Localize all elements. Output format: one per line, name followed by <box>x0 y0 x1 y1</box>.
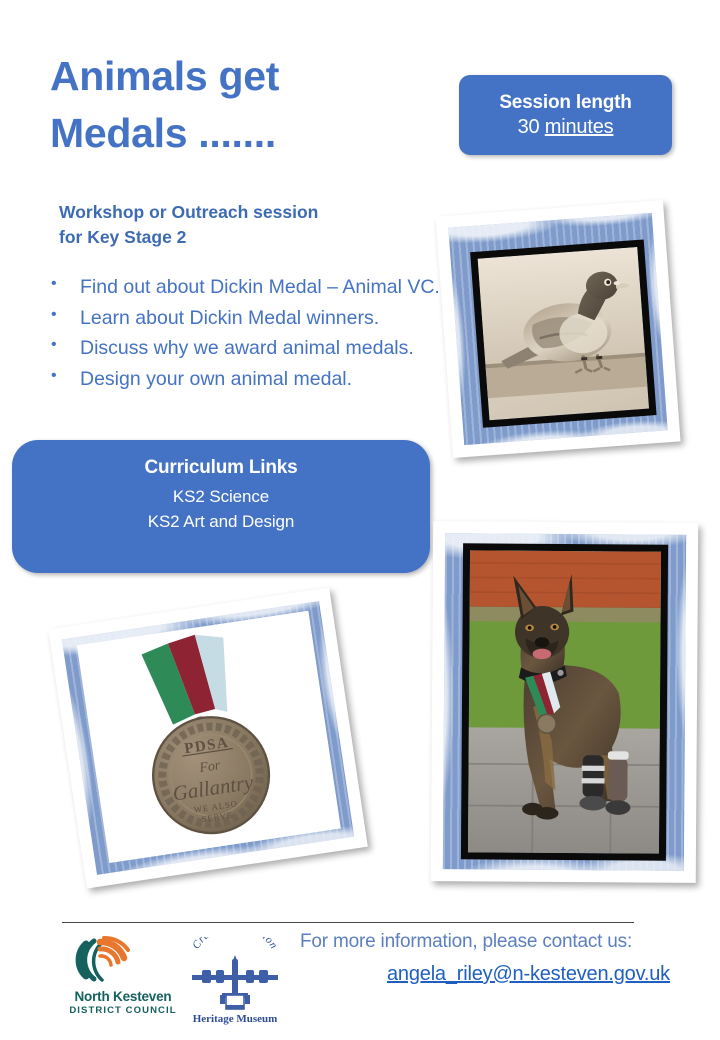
cranwell-aircraft-icon: Cranwell Aviation <box>182 937 288 1013</box>
medal-photo: PDSA For Gallantry WE ALSO SERVE <box>77 611 341 863</box>
pigeon-photo <box>470 239 656 427</box>
medal-photo-frame: PDSA For Gallantry WE ALSO SERVE <box>48 587 368 888</box>
list-item: Design your own animal medal. <box>44 365 464 395</box>
list-item: Discuss why we award animal medals. <box>44 334 464 364</box>
curriculum-link-item: KS2 Science <box>173 485 269 510</box>
pigeon-photo-frame <box>435 200 680 458</box>
cranwell-logo-arc-text: Cranwell Aviation <box>190 937 280 951</box>
contact-prompt: For more information, please contact us: <box>300 931 670 953</box>
session-length-value: 30 minutes <box>518 116 614 139</box>
nkdc-logo-subtitle: DISTRICT COUNCIL <box>68 1005 178 1016</box>
nkdc-swirl-icon <box>68 932 178 988</box>
curriculum-links-heading: Curriculum Links <box>144 457 297 479</box>
session-length-unit: minutes <box>545 116 614 138</box>
page-title-line-2: Medals ....... <box>50 105 430 162</box>
curriculum-link-item: KS2 Art and Design <box>148 510 295 535</box>
session-bullet-list: Find out about Dickin Medal – Animal VC.… <box>44 273 464 396</box>
cranwell-logo-name: Heritage Museum <box>182 1013 288 1025</box>
footer-divider <box>62 922 634 923</box>
poster-page: Animals get Medals ....... Session lengt… <box>0 0 720 1040</box>
cranwell-aviation-heritage-museum-logo: Cranwell Aviation Heritage Museum <box>182 937 288 1025</box>
curriculum-links-box: Curriculum Links KS2 Science KS2 Art and… <box>12 440 430 573</box>
page-title-line-1: Animals get <box>50 48 430 105</box>
poster-subtitle-line-1: Workshop or Outreach session <box>59 200 409 225</box>
pigeon-illustration <box>478 247 648 398</box>
poster-subtitle: Workshop or Outreach session for Key Sta… <box>59 200 409 250</box>
list-item: Find out about Dickin Medal – Animal VC. <box>44 273 464 303</box>
svg-text:Cranwell Aviation: Cranwell Aviation <box>190 937 280 951</box>
contact-email-link[interactable]: angela_riley@n-kesteven.gov.uk <box>300 963 670 986</box>
nkdc-logo-name: North Kesteven <box>68 989 178 1004</box>
north-kesteven-district-council-logo: North Kesteven DISTRICT COUNCIL <box>68 932 178 1022</box>
session-length-number: 30 <box>518 116 545 138</box>
list-item: Learn about Dickin Medal winners. <box>44 304 464 334</box>
military-dog-illustration <box>468 550 661 853</box>
page-title: Animals get Medals ....... <box>50 48 430 161</box>
dog-photo <box>461 543 668 860</box>
session-length-label: Session length <box>499 92 631 114</box>
poster-subtitle-line-2: for Key Stage 2 <box>59 225 409 250</box>
session-length-badge: Session length 30 minutes <box>459 75 672 155</box>
dickin-medal-illustration: PDSA For Gallantry WE ALSO SERVE <box>77 611 341 863</box>
dog-photo-frame <box>431 521 699 883</box>
